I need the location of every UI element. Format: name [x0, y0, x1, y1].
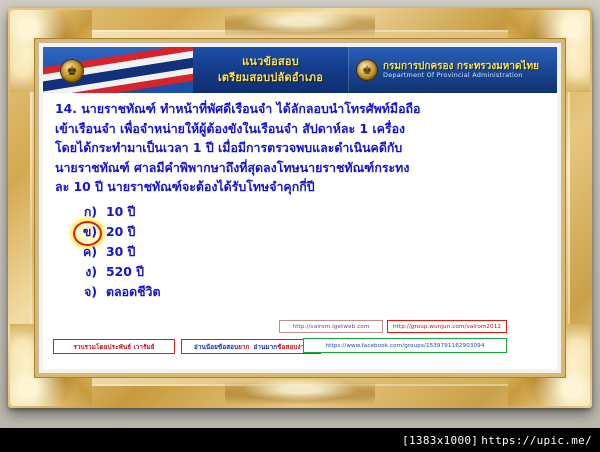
frame-ornament-top-center [225, 11, 375, 37]
choice-key: ข) [77, 222, 97, 242]
choice-option-kho[interactable]: ข) 20 ปี [55, 222, 545, 242]
question-line: 14. นายราชทัณฑ์ ทำหน้าที่พัศดีเรือนจำ ได… [55, 99, 545, 119]
choice-option-kho-kwai[interactable]: ค) 30 ปี [55, 242, 545, 262]
question-text: 14. นายราชทัณฑ์ ทำหน้าที่พัศดีเรือนจำ ได… [55, 99, 545, 197]
facebook-group-link[interactable]: https://www.facebook.com/groups/15397911… [303, 338, 507, 353]
department-block: ♚ กรมการปกครอง กระทรวงมหาดไทย Department… [348, 47, 557, 93]
question-line: โดยได้กระทำมาเป็นเวลา 1 ปี เมื่อมีการตรว… [55, 138, 545, 158]
slogan-box: อ่านน้อยข้อสอบ ยาก อ่านมาก ข้อสอบง่าย [181, 339, 321, 354]
choice-key: ง) [77, 262, 97, 282]
author-credit-text: รวบรวมโดยประพันธ์ เวารัมย์ [73, 342, 154, 352]
slogan-part-c: อ่านมาก [254, 342, 278, 352]
frame-mat: ♚ แนวข้อสอบ เตรียมสอบปลัดอำเภอ ♚ กรมการป… [38, 42, 562, 374]
exam-question-image: ♚ แนวข้อสอบ เตรียมสอบปลัดอำเภอ ♚ กรมการป… [43, 47, 557, 369]
watermark-bar: [1383x1000] https://upic.me/ [0, 428, 600, 452]
frame-ornament-bottom-center [225, 379, 375, 405]
picture-frame: ♚ แนวข้อสอบ เตรียมสอบปลัดอำเภอ ♚ กรมการป… [8, 8, 592, 408]
garuda-seal-icon: ♚ [357, 60, 377, 80]
slogan-part-a: อ่านน้อยข้อสอบ [194, 342, 238, 352]
header-banner: ♚ แนวข้อสอบ เตรียมสอบปลัดอำเภอ ♚ กรมการป… [43, 47, 557, 93]
garuda-seal-icon: ♚ [61, 60, 83, 82]
website-link-wunjun-text: http://group.wunjun.com/valrom2012 [393, 324, 501, 330]
question-line: เข้าเรือนจำ เพื่อจำหน่ายให้ผู้ต้องขังในเ… [55, 119, 545, 139]
choice-key: ค) [77, 242, 97, 262]
website-link-wunjun[interactable]: http://group.wunjun.com/valrom2012 [387, 320, 507, 333]
image-dimensions-label: [1383x1000] [402, 434, 478, 447]
slogan-part-b: ยาก [238, 342, 249, 352]
choice-key: ก) [77, 202, 97, 222]
question-line: นายราชทัณฑ์ ศาลมีคำพิพากษาถึงที่สุดลงโทษ… [55, 158, 545, 178]
department-names: กรมการปกครอง กระทรวงมหาดไทย Department O… [383, 61, 539, 80]
choice-label: 520 ปี [106, 262, 144, 282]
footer-links: รวบรวมโดยประพันธ์ เวารัมย์ อ่านน้อยข้อสอ… [53, 319, 549, 365]
choice-option-cho[interactable]: จ) ตลอดชีวิต [55, 282, 545, 302]
choice-label: ตลอดชีวิต [106, 282, 161, 302]
author-credit-box: รวบรวมโดยประพันธ์ เวารัมย์ [53, 339, 175, 354]
choice-key: จ) [77, 282, 97, 302]
banner-title-line2: เตรียมสอบปลัดอำเภอ [218, 70, 323, 86]
choice-option-ngo[interactable]: ง) 520 ปี [55, 262, 545, 282]
choice-option-ka[interactable]: ก) 10 ปี [55, 202, 545, 222]
background-wall: ♚ แนวข้อสอบ เตรียมสอบปลัดอำเภอ ♚ กรมการป… [0, 0, 600, 452]
website-link-valrom[interactable]: http://valrom.igetweb.com [279, 320, 383, 333]
department-name-english: Department Of Provincial Administration [383, 72, 539, 79]
image-source-url: https://upic.me/ [481, 434, 592, 447]
banner-title-line1: แนวข้อสอบ [242, 54, 299, 70]
thai-flag-graphic: ♚ [43, 47, 193, 93]
choice-label: 30 ปี [106, 242, 135, 262]
question-line: ละ 10 ปี นายราชทัณฑ์จะต้องได้รับโทษจำคุก… [55, 177, 545, 197]
choice-label: 20 ปี [106, 222, 135, 242]
question-body: 14. นายราชทัณฑ์ ทำหน้าที่พัศดีเรือนจำ ได… [43, 93, 557, 369]
answer-choices: ก) 10 ปี ข) 20 ปี ค) 30 ปี [55, 202, 545, 302]
banner-title: แนวข้อสอบ เตรียมสอบปลัดอำเภอ [193, 47, 348, 93]
facebook-group-link-text: https://www.facebook.com/groups/15397911… [326, 343, 485, 349]
choice-label: 10 ปี [106, 202, 135, 222]
website-link-valrom-text: http://valrom.igetweb.com [293, 324, 370, 330]
